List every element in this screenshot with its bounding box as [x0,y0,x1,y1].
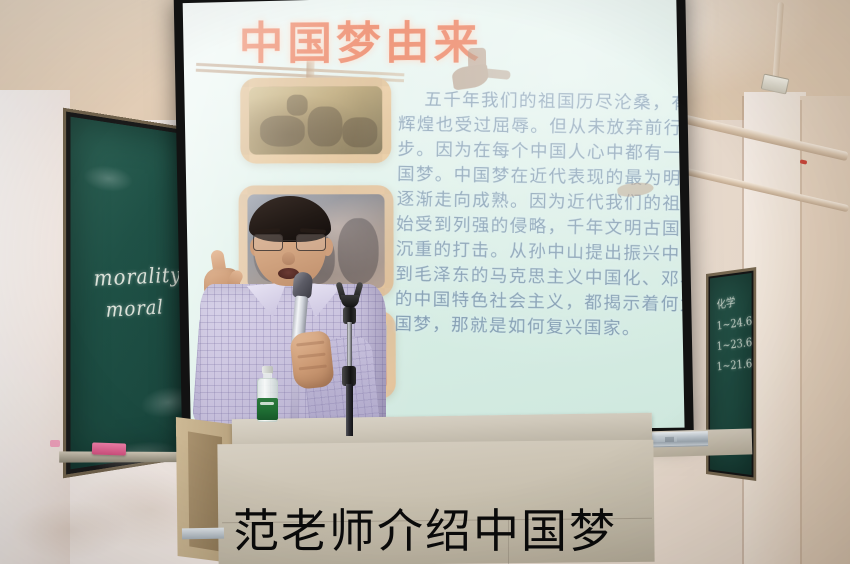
chalkboard-eraser [92,442,126,455]
podium-front-panel [217,440,654,564]
podium-left-drawer-slide [182,528,224,540]
chalk-tray-left [59,451,195,462]
blackboard-frame [63,108,190,479]
bottle-label [257,398,278,420]
photograph-classroom-lecture: morality moral 化学 1~24.6 1~23.6 1~21.6 中… [0,0,850,564]
slide-image-historical-scene-sepia [240,77,391,163]
ceiling-fan-silhouette [444,47,507,90]
speaker-nose [282,252,295,265]
podium-panel-seam [508,520,509,564]
mic-stand-lower-pole [346,384,353,436]
chalk-smudge [83,163,133,194]
pillar-edge-outer [800,100,802,564]
slide-body-text: 五千年我们的祖国历尽沦桑，有过 辉煌也受过屈辱。但从未放弃前行的脚 步。因为在每… [394,88,684,344]
mic-clip [338,282,362,308]
mic-stand-adjuster [342,366,356,386]
microphone-stand [336,282,364,434]
speaker-person [196,188,402,440]
chalk-text-morality: morality [93,262,182,291]
left-wall [0,90,70,564]
chalk-text-right-1: 化学 [716,293,736,313]
blackboard-left: morality moral [63,108,190,479]
mic-stand-upper-pole [347,322,352,368]
speaker-mic-hand [289,330,335,390]
glasses [250,234,332,252]
water-bottle [256,366,279,422]
slide-body-line: 国梦，那就是如何复兴国家。 [394,312,684,343]
far-right-wall [800,96,850,564]
chalk-piece [50,440,60,447]
chalk-text-moral: moral [105,296,164,322]
